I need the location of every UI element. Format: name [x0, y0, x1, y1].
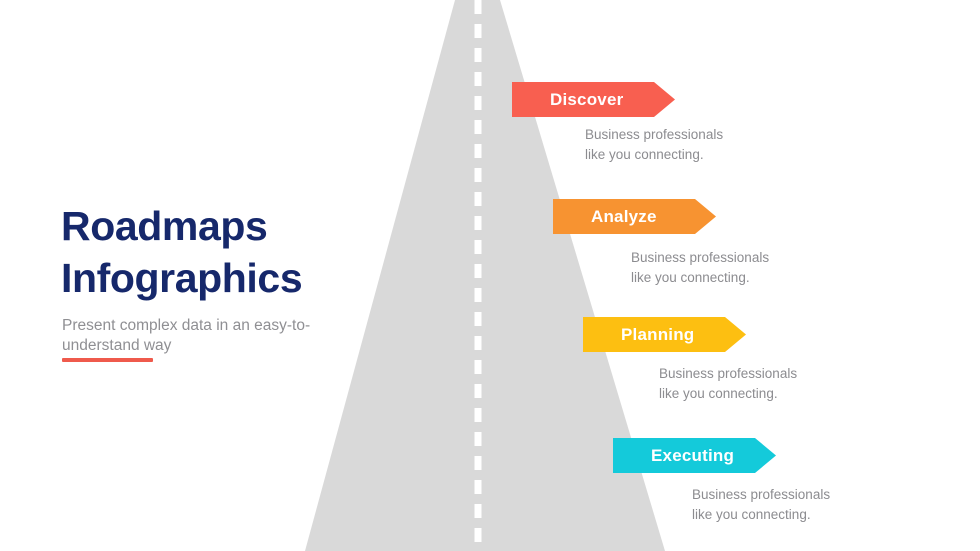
step-banner-executing[interactable]: Executing — [613, 438, 776, 473]
step-description-discover: Business professionals like you connecti… — [585, 125, 723, 165]
step-description-executing: Business professionals like you connecti… — [692, 485, 830, 525]
heading-block: Roadmaps Infographics Present complex da… — [61, 200, 361, 356]
step-label-executing: Executing — [651, 446, 734, 466]
step-banner-discover[interactable]: Discover — [512, 82, 675, 117]
step-description-analyze: Business professionals like you connecti… — [631, 248, 769, 288]
step-label-analyze: Analyze — [591, 207, 657, 227]
step-label-planning: Planning — [621, 325, 694, 345]
slide-canvas: Roadmaps Infographics Present complex da… — [0, 0, 980, 551]
roadmap-step-analyze: Analyze — [553, 199, 716, 234]
roadmap-step-planning: Planning — [583, 317, 746, 352]
page-subtitle: Present complex data in an easy-to-under… — [62, 316, 312, 356]
page-title-line-1: Roadmaps — [61, 200, 361, 252]
step-banner-analyze[interactable]: Analyze — [553, 199, 716, 234]
page-title-line-2: Infographics — [61, 252, 361, 304]
accent-rule — [62, 358, 153, 362]
roadmap-step-discover: Discover — [512, 82, 675, 117]
roadmap-step-executing: Executing — [613, 438, 776, 473]
step-banner-planning[interactable]: Planning — [583, 317, 746, 352]
step-label-discover: Discover — [550, 90, 623, 110]
step-description-planning: Business professionals like you connecti… — [659, 364, 797, 404]
